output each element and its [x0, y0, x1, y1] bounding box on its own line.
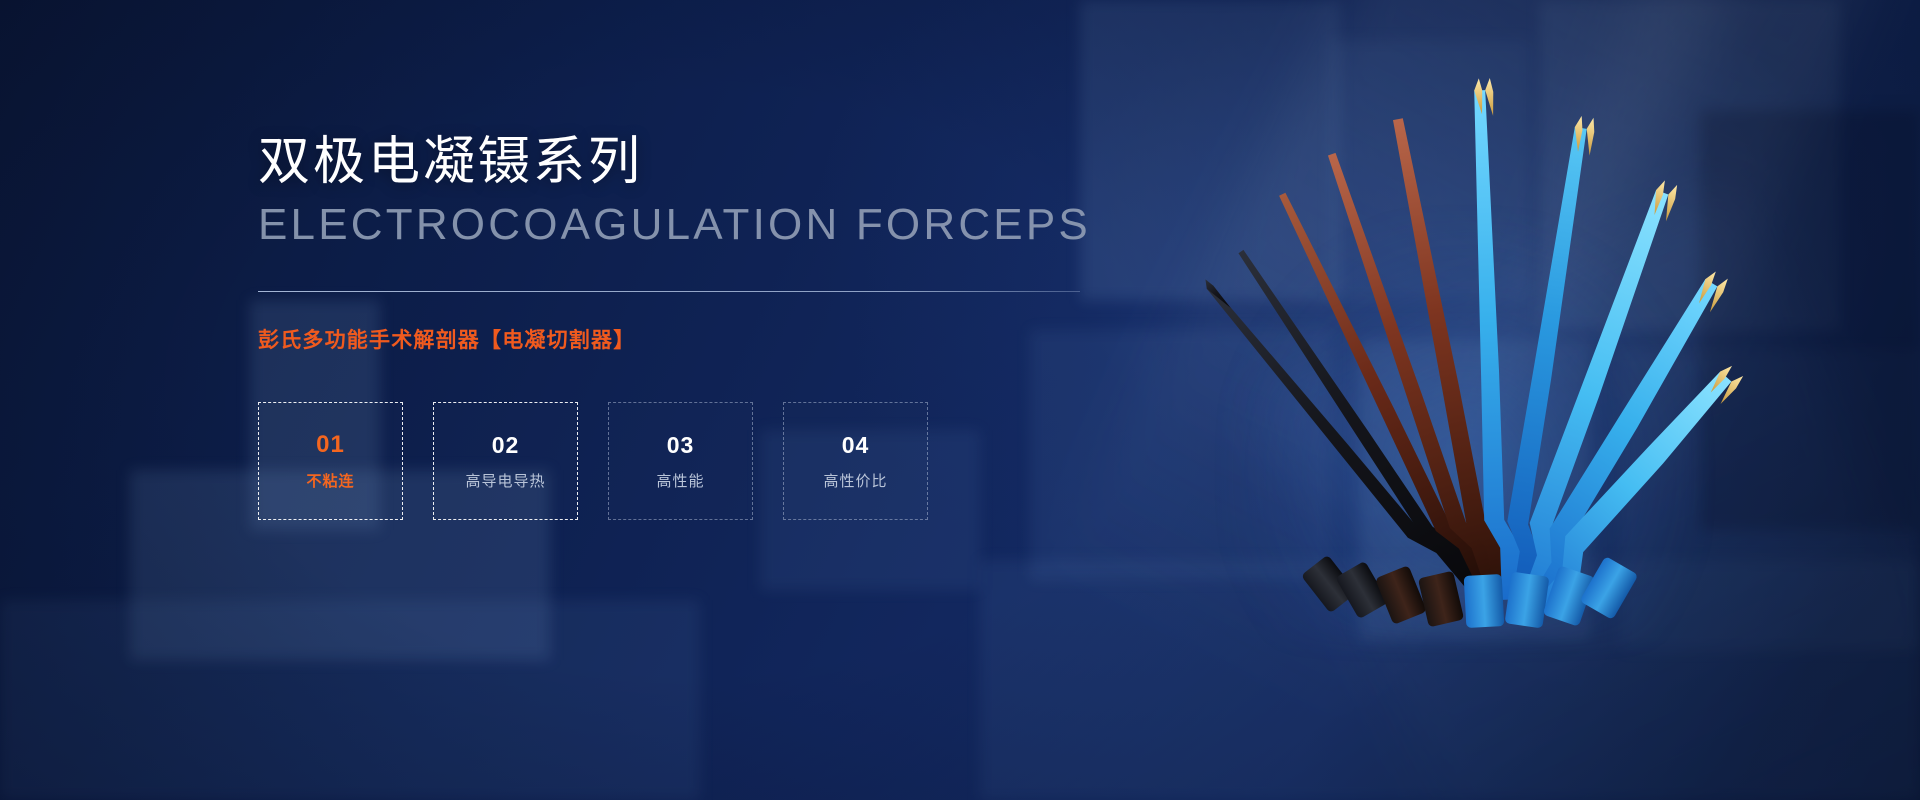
- feature-label: 高性能: [656, 474, 704, 489]
- feature-label: 高导电导热: [465, 474, 545, 489]
- page-title: 双极电凝镊系列: [258, 132, 1138, 193]
- feature-list: 01 不粘连 02 高导电导热 03 高性能 04 高性价比: [258, 402, 1138, 520]
- product-tagline: 彭氏多功能手术解剖器【电凝切割器】: [258, 327, 1138, 354]
- divider: [258, 291, 1080, 292]
- feature-number: 04: [842, 434, 870, 457]
- feature-card-01[interactable]: 01 不粘连: [258, 402, 403, 520]
- forceps-product-image: [1140, 70, 1780, 630]
- feature-label: 高性价比: [823, 474, 887, 489]
- feature-card-04[interactable]: 04 高性价比: [783, 402, 928, 520]
- feature-card-02[interactable]: 02 高导电导热: [433, 402, 578, 520]
- feature-number: 03: [667, 434, 695, 457]
- banner-content: 双极电凝镊系列 ELECTROCOAGULATION FORCEPS 彭氏多功能…: [258, 132, 1138, 520]
- product-banner: 双极电凝镊系列 ELECTROCOAGULATION FORCEPS 彭氏多功能…: [0, 0, 1920, 800]
- feature-number: 01: [316, 433, 345, 457]
- feature-label: 不粘连: [306, 474, 354, 489]
- feature-card-03[interactable]: 03 高性能: [608, 402, 753, 520]
- feature-number: 02: [492, 434, 520, 457]
- page-subtitle-en: ELECTROCOAGULATION FORCEPS: [258, 199, 1138, 252]
